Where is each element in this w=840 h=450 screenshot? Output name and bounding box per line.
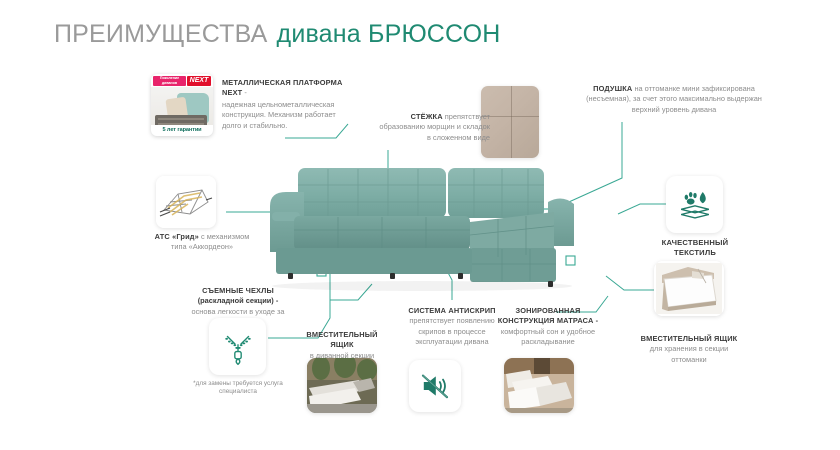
sofa-storage-box-photo xyxy=(307,358,377,413)
callout-zoned-mattress: ЗОНИРОВАННАЯ КОНСТРУКЦИЯ МАТРАСА - комфо… xyxy=(496,306,600,348)
next-platform-photo: Поколение диванов NEXT 5 лет гарантии xyxy=(151,74,213,136)
callout-textile: КАЧЕСТВЕННЫЙ ТЕКСТИЛЬ xyxy=(650,238,740,259)
callout-pillow: ПОДУШКА на оттоманке мини зафиксирована … xyxy=(576,84,772,115)
callout-anti-squeak: СИСТЕМА АНТИСКРИП препятствует появлению… xyxy=(404,306,500,348)
unfolded-mattress-photo xyxy=(504,358,574,413)
callout-storage-sofa: ВМЕСТИТЕЛЬНЫЙ ЯЩИК в диванной секции xyxy=(296,330,388,361)
callout-ats-grid: АТС «Грид» с механизмом типа «Аккордеон» xyxy=(146,232,258,253)
textile-quality-icon xyxy=(666,176,723,233)
page-title: ПРЕИМУЩЕСТВАдивана БРЮССОН xyxy=(54,20,501,49)
corner-sofa-photo xyxy=(262,160,602,293)
speaker-muted-icon xyxy=(409,360,461,412)
callout-removable-covers-footnote: *для замены требуется услуга специалиста xyxy=(182,380,294,397)
next-mark: NEXT xyxy=(187,76,211,86)
page-title-muted: ПРЕИМУЩЕСТВА xyxy=(54,20,268,48)
callout-metal-platform: МЕТАЛЛИЧЕСКАЯ ПЛАТФОРМА NEXT - надежная … xyxy=(222,78,352,131)
zipper-icon xyxy=(209,318,266,375)
next-banner-bar: Поколение диванов NEXT xyxy=(151,74,213,87)
next-brand-badge: Поколение диванов xyxy=(153,76,186,86)
page-title-accent: дивана БРЮССОН xyxy=(277,20,501,48)
infographic-canvas: ПРЕИМУЩЕСТВАдивана БРЮССОН xyxy=(0,0,840,450)
ats-grid-mechanism-photo xyxy=(156,176,216,228)
ottoman-storage-photo xyxy=(654,261,724,316)
callout-quilting: СТЁЖКА препятствует образованию морщин и… xyxy=(374,112,490,143)
pillow-seam-v xyxy=(511,86,512,158)
next-photo-body xyxy=(151,87,213,125)
next-warranty-label: 5 лет гарантии xyxy=(151,125,213,136)
callout-storage-ottoman: ВМЕСТИТЕЛЬНЫЙ ЯЩИК для хранения в секции… xyxy=(634,334,744,365)
